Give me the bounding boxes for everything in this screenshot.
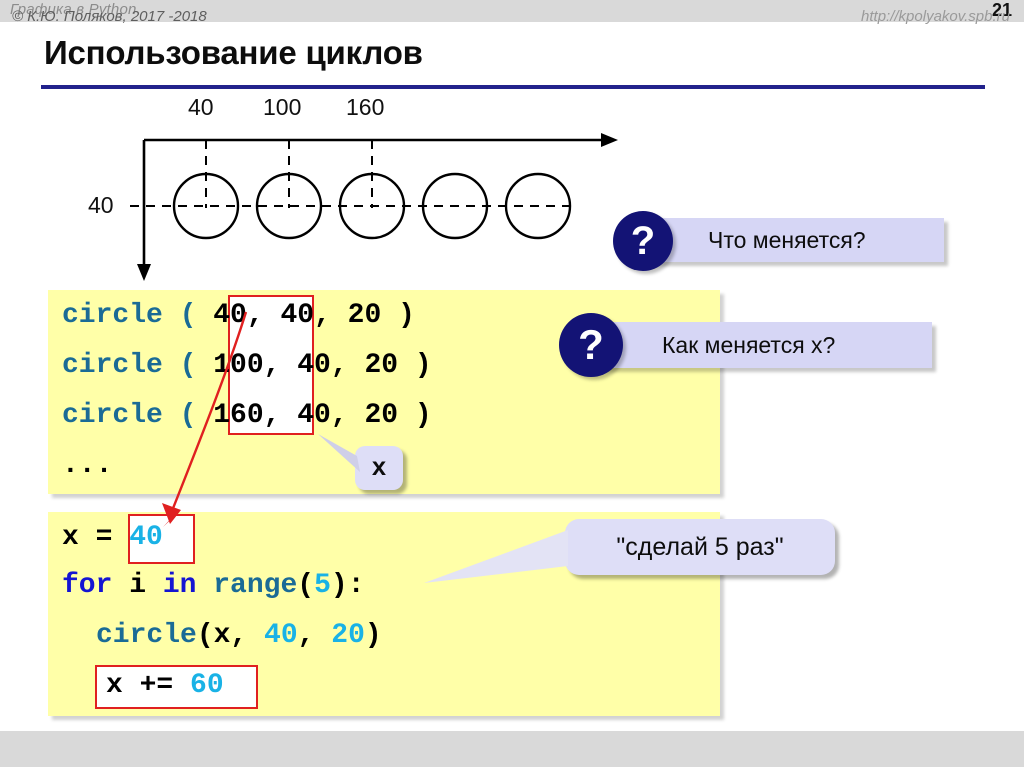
code-token-60: 60: [190, 670, 224, 701]
code-token-rest: 40, 20 ): [297, 400, 431, 431]
code-token-assign: =: [79, 522, 129, 553]
code-token-rest: 40, 20 ): [297, 350, 431, 381]
footer-bar: [0, 731, 1024, 767]
question-mark-glyph: ?: [578, 321, 604, 369]
code-token-arg-x: 100,: [213, 350, 297, 381]
coordinate-diagram: 40 100 160 40: [96, 96, 636, 286]
code-token-rest: 40, 20 ): [280, 300, 414, 331]
callout-what-changes-label: Что меняется?: [708, 227, 866, 254]
code-token-40: 40: [129, 522, 163, 553]
x-tick-label-160: 160: [346, 94, 384, 121]
code-token-args-open: (x,: [197, 620, 264, 651]
code-line-x-init: x = 40: [62, 524, 163, 552]
question-mark-icon: ?: [559, 313, 623, 377]
code-token-for: for: [62, 570, 112, 601]
bubble-x-variable: x: [355, 446, 403, 490]
y-tick-label-40: 40: [88, 192, 114, 219]
code-token-circle: circle (: [62, 350, 213, 381]
code-token-range: range: [196, 570, 297, 601]
code-line-ellipsis: ...: [62, 452, 112, 480]
code-line-3: circle ( 160, 40, 20 ): [62, 402, 432, 430]
code-token-arg-x: 160,: [213, 400, 297, 431]
bubble-x-label: x: [371, 454, 386, 483]
x-tick-label-40: 40: [188, 94, 214, 121]
y-axis-arrowhead: [137, 264, 151, 281]
page-title: Использование циклов: [44, 34, 423, 72]
code-token-in: in: [163, 570, 197, 601]
code-line-2: circle ( 100, 40, 20 ): [62, 352, 432, 380]
code-line-circle-call: circle(x, 40, 20): [96, 622, 382, 650]
code-token-arg20: 20: [331, 620, 365, 651]
callout-what-changes: Что меняется?: [648, 218, 944, 262]
callout-how-changes-x: Как меняется x?: [600, 322, 932, 368]
title-underline-rule: [41, 85, 985, 89]
code-token-close-colon: ):: [331, 570, 365, 601]
code-token-x: x: [62, 522, 79, 553]
code-line-1: circle ( 40, 40, 20 ): [62, 302, 415, 330]
x-tick-label-100: 100: [263, 94, 301, 121]
footer-copyright: © К.Ю. Поляков, 2017 -2018: [12, 8, 207, 25]
code-token-i: i: [112, 570, 162, 601]
bubble-do-5-times-label: "сделай 5 раз": [616, 533, 783, 562]
code-token-arg-x: 40,: [213, 300, 280, 331]
code-line-x-increment: x += 60: [106, 672, 224, 700]
code-token-arg40: 40: [264, 620, 298, 651]
code-token-5: 5: [314, 570, 331, 601]
code-token-circle: circle (: [62, 400, 213, 431]
code-token-close-paren: ): [365, 620, 382, 651]
code-token-open-paren: (: [297, 570, 314, 601]
bubble-do-5-times: "сделай 5 раз": [565, 519, 835, 575]
code-token-circle: circle: [96, 620, 197, 651]
code-token-circle: circle (: [62, 300, 213, 331]
code-line-for-loop: for i in range(5):: [62, 572, 365, 600]
callout-how-changes-x-label: Как меняется x?: [662, 332, 835, 359]
footer-url: http://kpolyakov.spb.ru: [861, 8, 1010, 25]
code-token-comma: ,: [298, 620, 332, 651]
question-mark-glyph: ?: [631, 219, 655, 264]
question-mark-icon: ?: [613, 211, 673, 271]
x-axis-arrowhead: [601, 133, 618, 147]
code-token-x-plus-eq: x +=: [106, 670, 190, 701]
diagram-svg: [96, 96, 636, 286]
